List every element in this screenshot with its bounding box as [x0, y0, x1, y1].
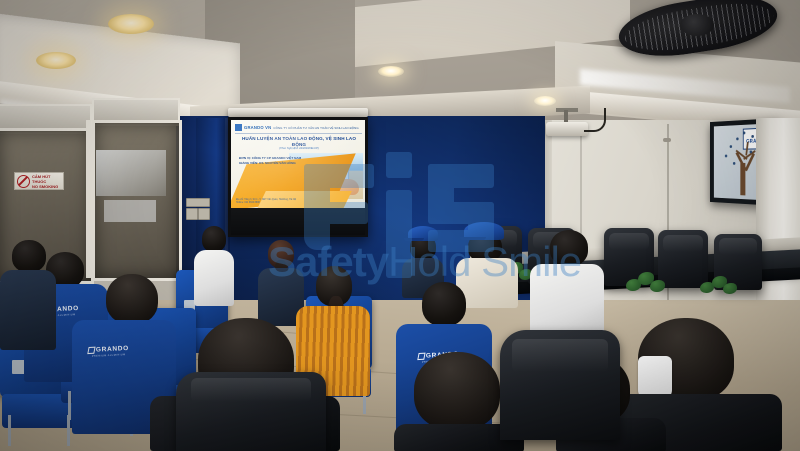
chair-leg	[68, 391, 71, 420]
downlight-icon	[534, 96, 556, 106]
no-smoking-line-1: CẤM HÚT THUỐC	[32, 174, 61, 184]
wall-hook	[663, 138, 671, 142]
handprint-leaf	[750, 150, 753, 153]
attendee-torso	[194, 250, 234, 306]
attendee-head	[106, 274, 158, 324]
attendee-head	[202, 226, 226, 252]
handprint-leaf	[733, 162, 735, 165]
light-switch-button[interactable]	[198, 208, 210, 220]
no-smoking-icon	[17, 175, 30, 188]
attendee-torso	[530, 264, 604, 338]
projection-screen: GRANDO VN CÔNG TY CỔ PHẦN TƯ VẤN AN TOÀN…	[228, 108, 368, 240]
handprint-leaf	[736, 137, 738, 140]
wall-seam	[667, 124, 669, 320]
glass-reflection	[96, 150, 166, 196]
plant-leaf	[723, 283, 737, 294]
grando-tagline: PREMIUM ALUMINIUM	[92, 353, 126, 358]
plant-leaf	[650, 280, 665, 292]
cap-brim	[460, 237, 486, 240]
downlight-icon	[378, 66, 404, 77]
no-smoking-sign: CẤM HÚT THUỐC NO SMOKING	[14, 172, 64, 190]
downlight-icon	[36, 52, 76, 69]
photo-scene: GRANDO	[0, 0, 800, 451]
chair-foreground[interactable]	[176, 372, 326, 451]
attendee-white-shirt	[194, 226, 234, 306]
no-smoking-line-2: NO SMOKING	[32, 184, 61, 189]
light-switch-panel[interactable]	[186, 198, 210, 207]
ceiling-fan	[600, 0, 790, 64]
potted-plant	[626, 272, 666, 296]
attendee-far-left	[0, 240, 56, 350]
screen-glare	[231, 120, 365, 208]
light-switch-button[interactable]	[186, 208, 198, 220]
projector	[540, 108, 610, 144]
chair-leg	[8, 415, 11, 446]
attendee-head	[550, 230, 588, 266]
downlight-icon	[108, 14, 154, 34]
projector-body	[546, 122, 588, 136]
grando-chest-logo: GRANDO PREMIUM ALUMINIUM	[88, 345, 130, 358]
handprint-leaf	[730, 145, 732, 148]
cap-brim	[404, 238, 424, 241]
fan-hub	[680, 14, 714, 36]
attendee-head	[414, 352, 500, 430]
projector-cable	[584, 108, 606, 132]
screen-housing	[228, 108, 368, 117]
screen-lower-blank	[231, 208, 365, 235]
executive-chair-foreground[interactable]	[500, 330, 620, 440]
attendee-white-polo	[530, 230, 604, 338]
potted-plant	[700, 276, 738, 298]
glass-reflection	[104, 200, 156, 222]
attendee-torso	[0, 270, 56, 350]
attendee-head	[12, 240, 46, 272]
handprint-leaf	[725, 155, 727, 158]
grando-mark-icon	[87, 347, 95, 354]
attendee-head	[422, 282, 466, 326]
